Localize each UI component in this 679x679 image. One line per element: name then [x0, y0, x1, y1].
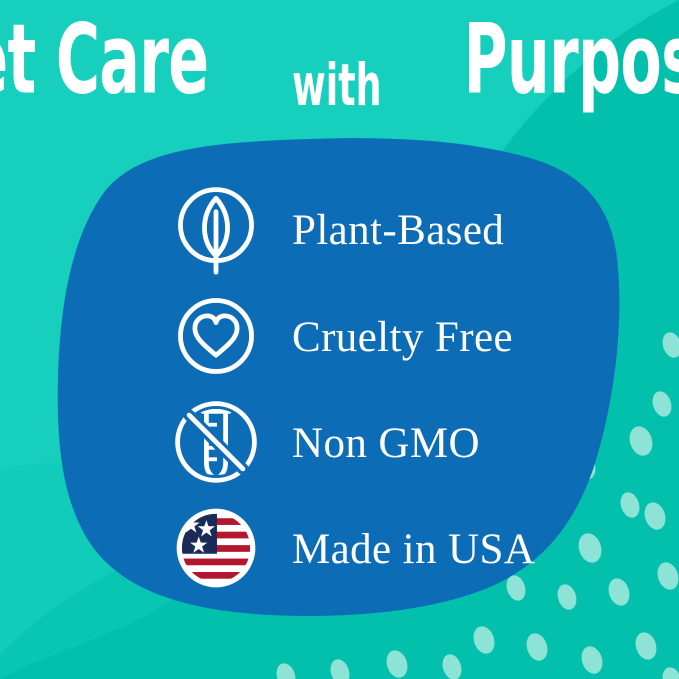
claims-list: Plant-Based Cruelty Free	[0, 0, 679, 679]
no-gmo-icon	[168, 394, 264, 490]
leaf-icon	[168, 181, 264, 277]
claim-label: Cruelty Free	[292, 316, 513, 359]
claim-label: Non GMO	[292, 422, 480, 465]
claim-row: Plant-Based	[168, 181, 504, 277]
claim-label: Made in USA	[292, 528, 535, 571]
claim-row: Made in USA	[168, 500, 535, 596]
claim-row: Cruelty Free	[168, 288, 513, 384]
claim-row: Non GMO	[168, 394, 480, 490]
promo-graphic: Pet Care with Purpose ® Plant-Based Crue…	[0, 0, 679, 679]
claim-label: Plant-Based	[292, 209, 504, 252]
heart-icon	[168, 288, 264, 384]
usa-flag-icon	[168, 500, 264, 596]
